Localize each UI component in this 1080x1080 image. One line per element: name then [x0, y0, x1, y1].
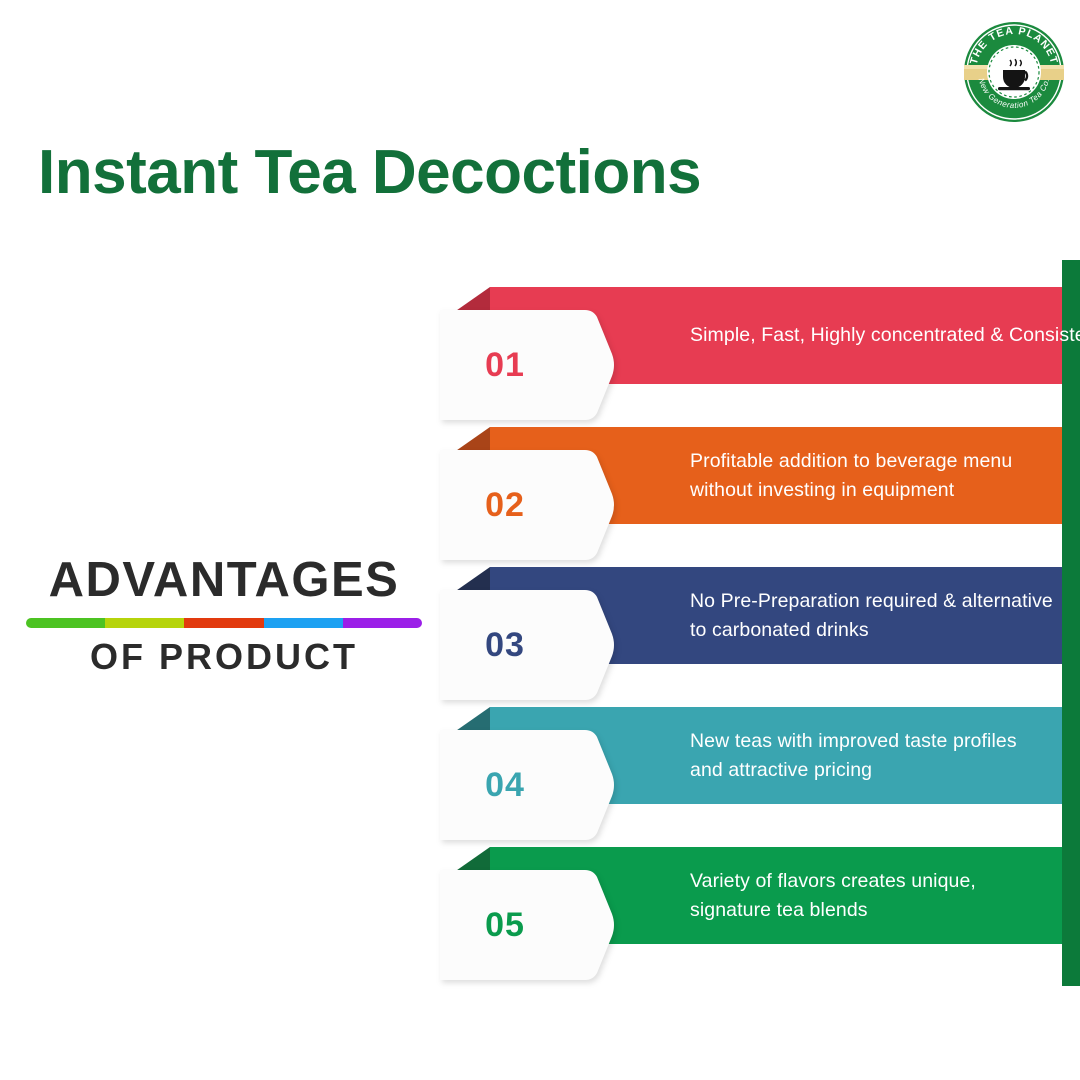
advantage-text-line: Variety of flavors creates unique,: [690, 867, 1080, 895]
advantage-row[interactable]: Simple, Fast, Highly concentrated & Cons…: [440, 260, 1062, 400]
divider-segment-3: [184, 618, 263, 628]
advantage-text-line: signature tea blends: [690, 896, 1080, 924]
rainbow-divider: [26, 618, 422, 628]
divider-segment-2: [105, 618, 184, 628]
advantage-number: 05: [440, 870, 570, 980]
advantage-text: No Pre-Preparation required & alternativ…: [690, 567, 1080, 664]
advantage-text: New teas with improved taste profilesand…: [690, 707, 1080, 804]
divider-segment-5: [343, 618, 422, 628]
advantage-text-line: New teas with improved taste profiles: [690, 727, 1080, 755]
advantage-text-line: and attractive pricing: [690, 756, 1080, 784]
advantage-text-line: to carbonated drinks: [690, 616, 1080, 644]
the-tea-planet-logo: THE TEA PLANET New Generation Tea Co.: [960, 18, 1068, 126]
page-title: Instant Tea Decoctions: [38, 140, 938, 205]
advantage-row[interactable]: New teas with improved taste profilesand…: [440, 680, 1062, 820]
advantage-text: Simple, Fast, Highly concentrated & Cons…: [690, 287, 1080, 384]
advantage-row[interactable]: Profitable addition to beverage menuwith…: [440, 400, 1062, 540]
advantage-row[interactable]: No Pre-Preparation required & alternativ…: [440, 540, 1062, 680]
advantage-text-line: No Pre-Preparation required & alternativ…: [690, 587, 1080, 615]
logo-svg: THE TEA PLANET New Generation Tea Co.: [960, 18, 1068, 126]
slide-canvas: THE TEA PLANET New Generation Tea Co. In…: [0, 0, 1080, 1080]
advantage-text: Variety of flavors creates unique,signat…: [690, 847, 1080, 944]
advantage-text: Profitable addition to beverage menuwith…: [690, 427, 1080, 524]
advantage-row[interactable]: Variety of flavors creates unique,signat…: [440, 820, 1062, 960]
advantage-text-line: Profitable addition to beverage menu: [690, 447, 1080, 475]
divider-segment-1: [26, 618, 105, 628]
advantage-text-line: without investing in equipment: [690, 476, 1080, 504]
divider-segment-4: [264, 618, 343, 628]
advantages-heading-block: ADVANTAGES OF PRODUCT: [24, 556, 424, 675]
advantages-subtitle: OF PRODUCT: [24, 639, 424, 675]
advantages-title: ADVANTAGES: [24, 556, 424, 605]
advantage-text-line: Simple, Fast, Highly concentrated & Cons…: [690, 321, 1080, 349]
